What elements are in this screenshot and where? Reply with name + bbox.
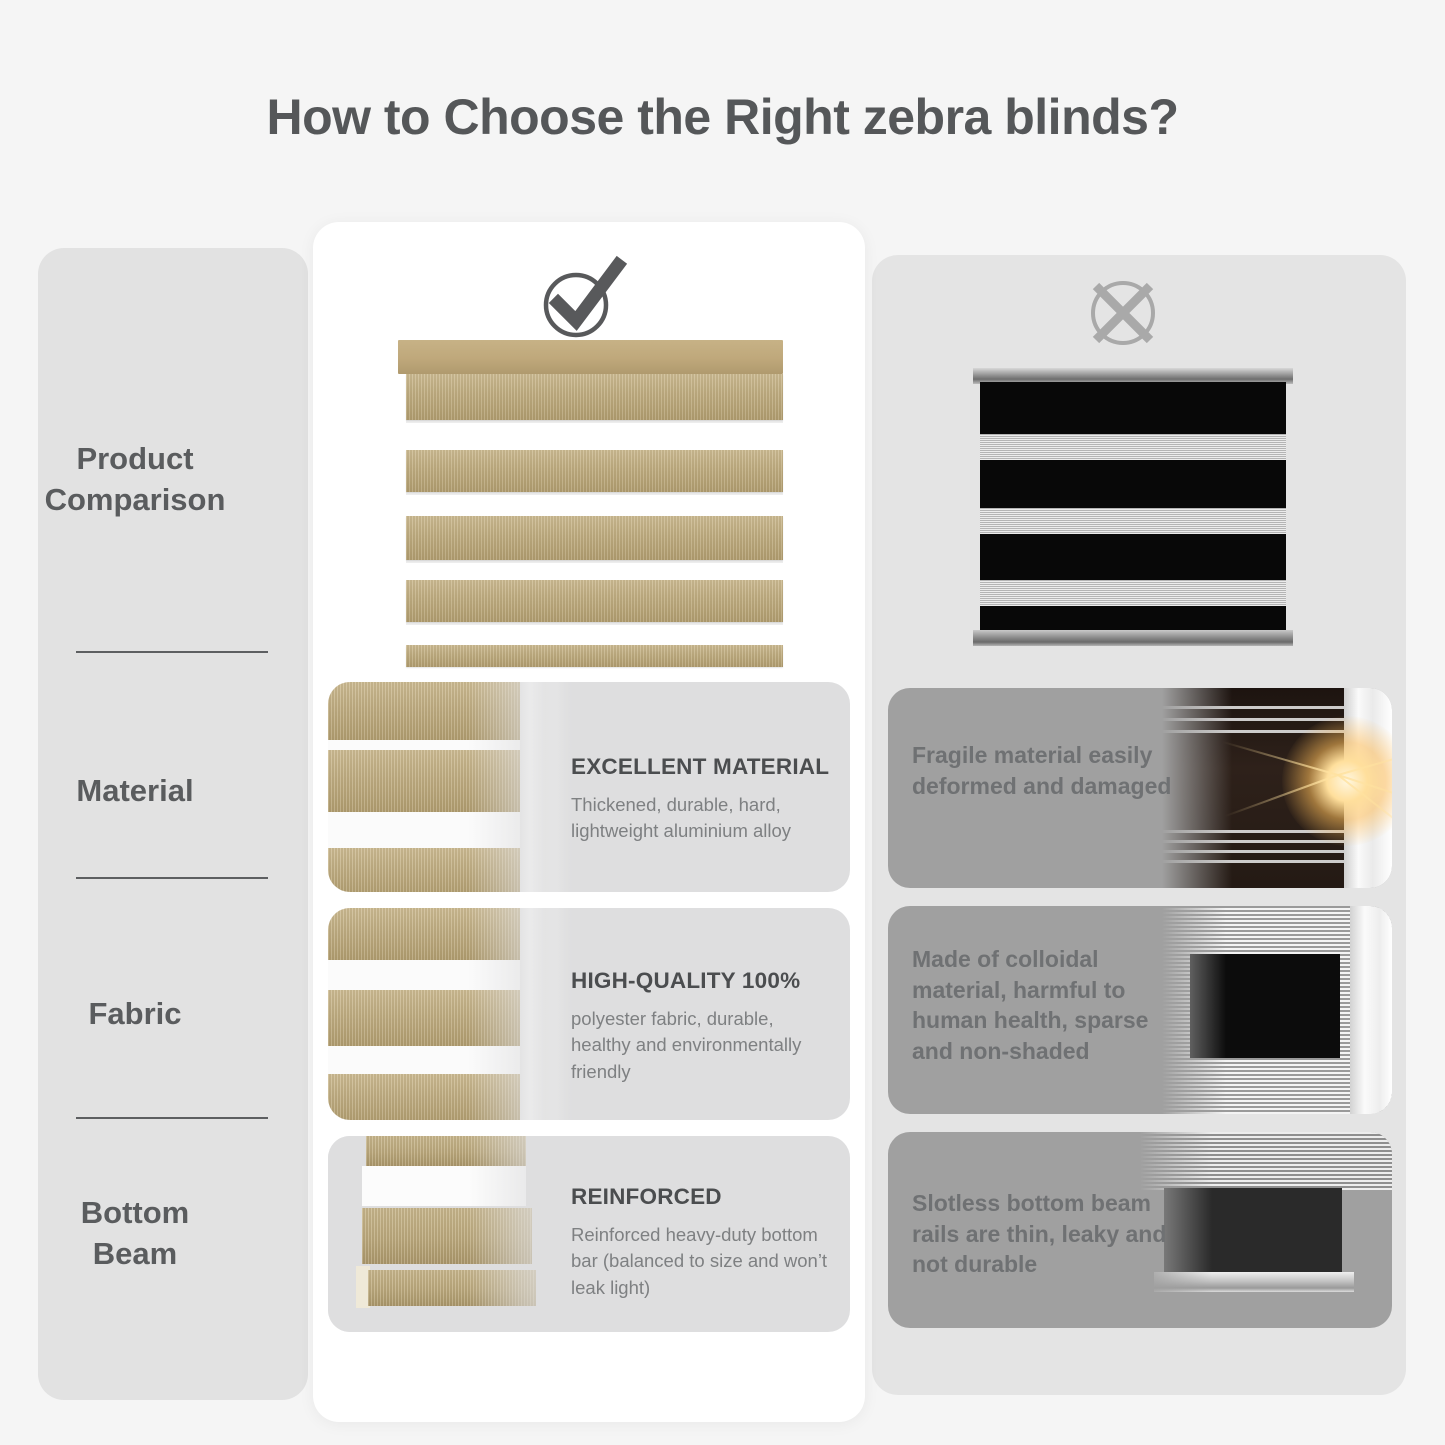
criteria-label-line: Bottom Beam — [0, 1192, 270, 1274]
good-hero-blind-image — [383, 340, 798, 670]
criteria-divider-1 — [76, 651, 268, 653]
criteria-divider-2 — [76, 877, 268, 879]
good-fabric-photo — [328, 908, 580, 1120]
blind-bottom-rail — [973, 630, 1293, 646]
criteria-label-product-comparison: Product Comparison — [0, 438, 270, 520]
blind-slat — [406, 580, 783, 622]
page-title: How to Choose the Right zebra blinds? — [0, 88, 1445, 146]
photo-fade — [468, 1136, 580, 1332]
blind-slat-shadow — [406, 420, 783, 423]
criteria-label-material: Material — [0, 770, 270, 811]
bad-material-photo — [1162, 688, 1392, 888]
bad-bottom-beam-text: Slotless bottom beam rails are thin, lea… — [912, 1188, 1192, 1280]
good-card-fabric[interactable]: HIGH-QUALITY 100% polyester fabric, dura… — [328, 908, 850, 1120]
criteria-label-bottom-beam: Bottom Beam — [0, 1192, 270, 1274]
good-material-text: EXCELLENT MATERIAL Thickened, durable, h… — [571, 682, 841, 892]
bad-fabric-text: Made of colloidal material, harmful to h… — [912, 944, 1192, 1066]
blind-slat-shadow — [406, 492, 783, 495]
good-card-bottom-beam[interactable]: REINFORCED Reinforced heavy-duty bottom … — [328, 1136, 850, 1332]
window-frame — [1350, 906, 1392, 1114]
good-material-heading: EXCELLENT MATERIAL — [571, 754, 833, 780]
blind-body — [980, 382, 1286, 632]
bad-material-text: Fragile material easily deformed and dam… — [912, 740, 1192, 801]
blind-sheer-stripe — [980, 508, 1286, 534]
blind-slat — [406, 374, 783, 420]
blind-slat — [406, 516, 783, 560]
good-fabric-body: polyester fabric, durable, healthy and e… — [571, 1006, 833, 1085]
blind-bottom-bar — [406, 645, 783, 667]
good-bottom-beam-text: REINFORCED Reinforced heavy-duty bottom … — [571, 1136, 841, 1332]
good-material-photo — [328, 682, 580, 892]
bad-card-fabric[interactable]: Made of colloidal material, harmful to h… — [888, 906, 1392, 1114]
blind-sheer-stripe — [980, 580, 1286, 606]
criteria-label-fabric: Fabric — [0, 993, 270, 1034]
bad-fabric-photo — [1162, 906, 1392, 1114]
good-bottom-beam-heading: REINFORCED — [571, 1184, 833, 1210]
good-fabric-heading: HIGH-QUALITY 100% — [571, 968, 833, 994]
check-circle-icon — [538, 255, 628, 343]
blind-slat-shadow — [406, 622, 783, 625]
good-card-material[interactable]: EXCELLENT MATERIAL Thickened, durable, h… — [328, 682, 850, 892]
blind-sheer-stripe — [980, 434, 1286, 460]
criteria-divider-3 — [76, 1117, 268, 1119]
bad-card-material[interactable]: Fragile material easily deformed and dam… — [888, 688, 1392, 888]
good-fabric-text: HIGH-QUALITY 100% polyester fabric, dura… — [571, 908, 841, 1120]
good-bottom-bar-photo — [328, 1136, 580, 1332]
good-material-body: Thickened, durable, hard, lightweight al… — [571, 792, 833, 845]
blind-slat-shadow — [406, 560, 783, 563]
photo-fade — [468, 682, 580, 892]
photo-fade — [468, 908, 580, 1120]
cross-circle-icon — [1082, 272, 1164, 354]
criteria-label-line: Product Comparison — [0, 438, 270, 520]
bad-card-bottom-beam[interactable]: Slotless bottom beam rails are thin, lea… — [888, 1132, 1392, 1328]
bad-hero-blind-image — [973, 368, 1293, 646]
blind-headrail — [398, 340, 783, 374]
blind-slat — [406, 450, 783, 492]
good-bottom-beam-body: Reinforced heavy-duty bottom bar (balanc… — [571, 1222, 833, 1301]
